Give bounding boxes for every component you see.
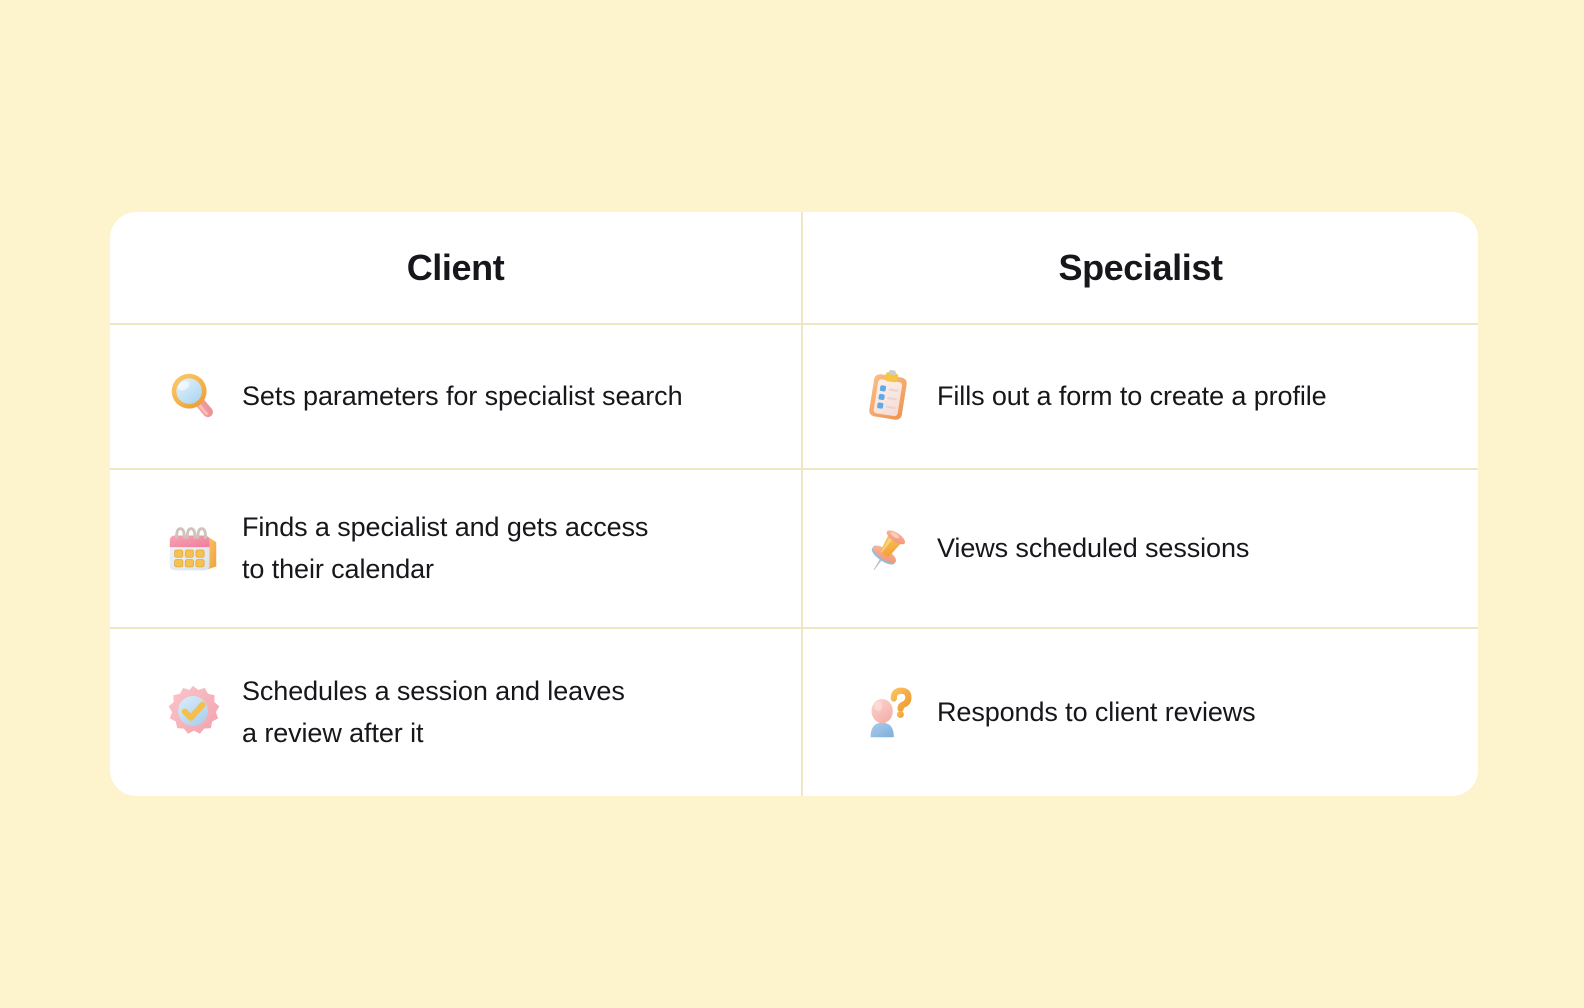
spiral-calendar-icon bbox=[162, 518, 224, 580]
magnifying-glass-icon bbox=[162, 366, 224, 428]
column-header-client: Client bbox=[110, 212, 801, 325]
pushpin-icon bbox=[857, 518, 919, 580]
table-row: Finds a specialist and gets access to th… bbox=[110, 470, 801, 629]
table-row: Responds to client reviews bbox=[801, 629, 1478, 796]
page-canvas: Client Specialist bbox=[0, 0, 1584, 1008]
page-title-client: Client bbox=[407, 248, 505, 288]
row-label-client-2: Finds a specialist and gets access to th… bbox=[242, 507, 648, 589]
row-label-specialist-2: Views scheduled sessions bbox=[937, 528, 1249, 569]
comparison-table-card: Client Specialist bbox=[110, 212, 1478, 796]
page-title-specialist: Specialist bbox=[1058, 248, 1222, 288]
row-label-specialist-1: Fills out a form to create a profile bbox=[937, 376, 1327, 417]
clipboard-checklist-icon bbox=[857, 366, 919, 428]
table-row: Sets parameters for specialist search bbox=[110, 325, 801, 470]
table-row: Views scheduled sessions bbox=[801, 470, 1478, 629]
rosette-checkmark-icon bbox=[162, 682, 224, 744]
row-label-client-3: Schedules a session and leaves a review … bbox=[242, 671, 625, 753]
row-label-client-1: Sets parameters for specialist search bbox=[242, 376, 682, 417]
row-label-specialist-3: Responds to client reviews bbox=[937, 692, 1256, 733]
table-row: Fills out a form to create a profile bbox=[801, 325, 1478, 470]
column-header-specialist: Specialist bbox=[801, 212, 1478, 325]
person-question-icon bbox=[857, 682, 919, 744]
table-row: Schedules a session and leaves a review … bbox=[110, 629, 801, 796]
